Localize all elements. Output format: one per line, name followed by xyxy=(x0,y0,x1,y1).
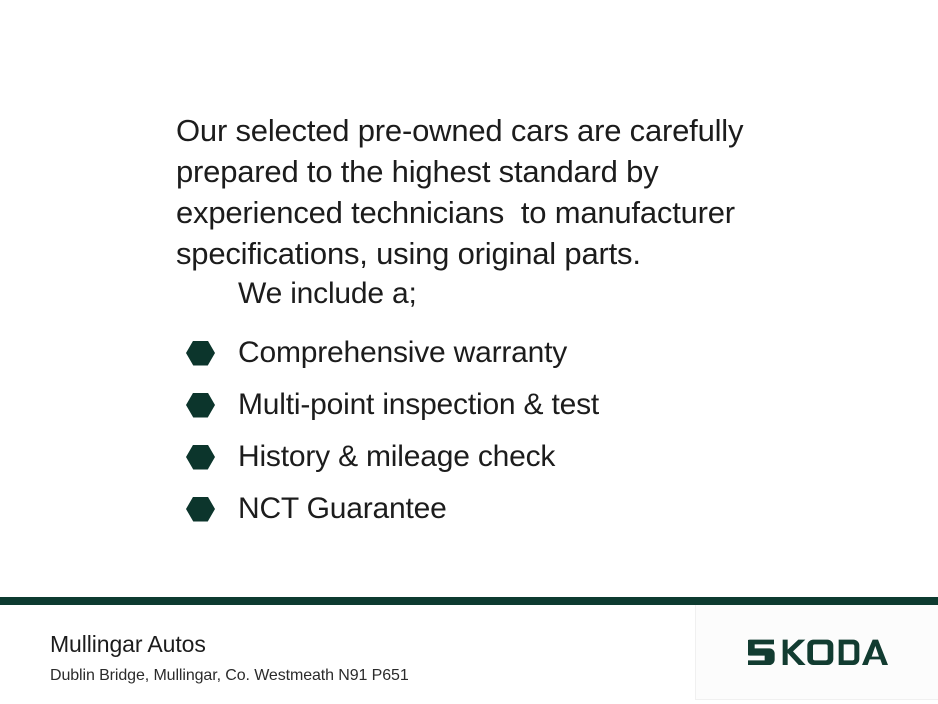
skoda-wordmark-logo xyxy=(748,637,888,667)
benefit-label: NCT Guarantee xyxy=(238,492,447,526)
hexagon-bullet-icon xyxy=(186,393,215,418)
list-item: NCT Guarantee xyxy=(186,483,786,535)
hexagon-bullet-icon xyxy=(186,341,215,366)
list-item: Comprehensive warranty xyxy=(186,327,786,379)
benefit-label: History & mileage check xyxy=(238,440,555,474)
promo-slide: Our selected pre-owned cars are carefull… xyxy=(0,0,938,704)
dealer-address: Dublin Bridge, Mullingar, Co. Westmeath … xyxy=(50,665,409,687)
list-item: History & mileage check xyxy=(186,431,786,483)
include-heading: We include a; xyxy=(238,275,417,313)
hexagon-bullet-icon xyxy=(186,445,215,470)
list-item: Multi-point inspection & test xyxy=(186,379,786,431)
logo-panel xyxy=(695,605,938,700)
benefit-label: Comprehensive warranty xyxy=(238,336,567,370)
hexagon-bullet-icon xyxy=(186,497,215,522)
dealer-name: Mullingar Autos xyxy=(50,630,206,658)
benefits-list: Comprehensive warranty Multi-point inspe… xyxy=(186,327,786,535)
intro-paragraph: Our selected pre-owned cars are carefull… xyxy=(176,110,816,274)
footer-divider-bar xyxy=(0,597,938,605)
benefit-label: Multi-point inspection & test xyxy=(238,388,599,422)
